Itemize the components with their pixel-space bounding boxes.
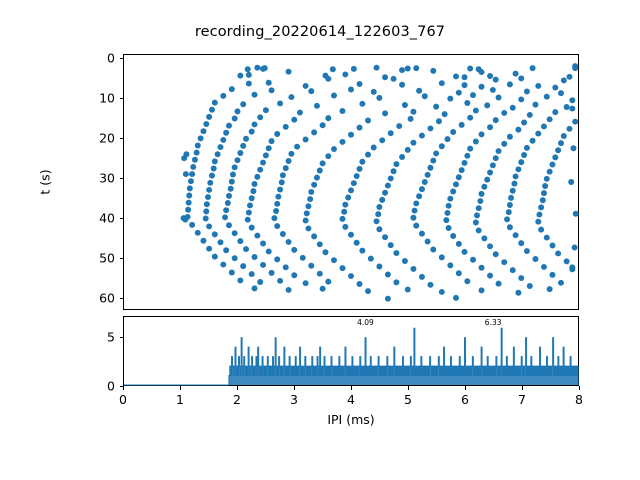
scatter-y-ticklabel: 10 — [81, 91, 115, 106]
scatter-y-ticklabel: 40 — [81, 211, 115, 226]
scatter-y-ticklabel: 30 — [81, 171, 115, 186]
scatter-y-tick — [120, 218, 124, 219]
histogram-x-ticklabel: 4 — [347, 392, 355, 407]
histogram-x-axis-label: IPI (ms) — [123, 412, 579, 427]
scatter-y-tick — [120, 298, 124, 299]
histogram-x-ticklabel: 6 — [461, 392, 469, 407]
histogram-y-ticklabel: 5 — [81, 330, 115, 345]
histogram-x-tick — [180, 386, 181, 390]
scatter-y-tick — [120, 178, 124, 179]
scatter-y-tick — [120, 258, 124, 259]
scatter-y-ticklabel: 0 — [81, 51, 115, 66]
scatter-axes — [123, 54, 579, 310]
histogram-plot-area — [124, 317, 578, 385]
histogram-x-ticklabel: 1 — [176, 392, 184, 407]
scatter-y-tick — [120, 98, 124, 99]
histogram-x-tick — [294, 386, 295, 390]
histogram-x-tick — [123, 386, 124, 390]
scatter-y-ticklabel: 20 — [81, 131, 115, 146]
histogram-x-tick — [579, 386, 580, 390]
histogram-x-tick — [522, 386, 523, 390]
histogram-axes — [123, 316, 579, 386]
histogram-x-ticklabel: 8 — [575, 392, 583, 407]
histogram-peak-label: 4.09 — [357, 318, 374, 327]
histogram-x-ticklabel: 3 — [290, 392, 298, 407]
histogram-peak-label: 6.33 — [485, 318, 502, 327]
histogram-x-tick — [351, 386, 352, 390]
histogram-x-ticklabel: 2 — [233, 392, 241, 407]
histogram-x-ticklabel: 7 — [518, 392, 526, 407]
histogram-x-tick — [408, 386, 409, 390]
scatter-y-tick — [120, 138, 124, 139]
histogram-x-tick — [465, 386, 466, 390]
scatter-y-ticklabel: 50 — [81, 251, 115, 266]
figure-title: recording_20220614_122603_767 — [0, 24, 640, 40]
histogram-x-ticklabel: 0 — [119, 392, 127, 407]
scatter-y-ticklabel: 60 — [81, 291, 115, 306]
scatter-plot-area — [124, 55, 578, 309]
histogram-y-ticklabel: 0 — [81, 379, 115, 394]
scatter-y-tick — [120, 58, 124, 59]
scatter-y-axis-label-text: t (s) — [38, 169, 53, 194]
histogram-x-tick — [237, 386, 238, 390]
histogram-x-ticklabel: 5 — [404, 392, 412, 407]
histogram-y-tick — [120, 337, 124, 338]
matplotlib-figure: recording_20220614_122603_767 0102030405… — [0, 0, 640, 480]
